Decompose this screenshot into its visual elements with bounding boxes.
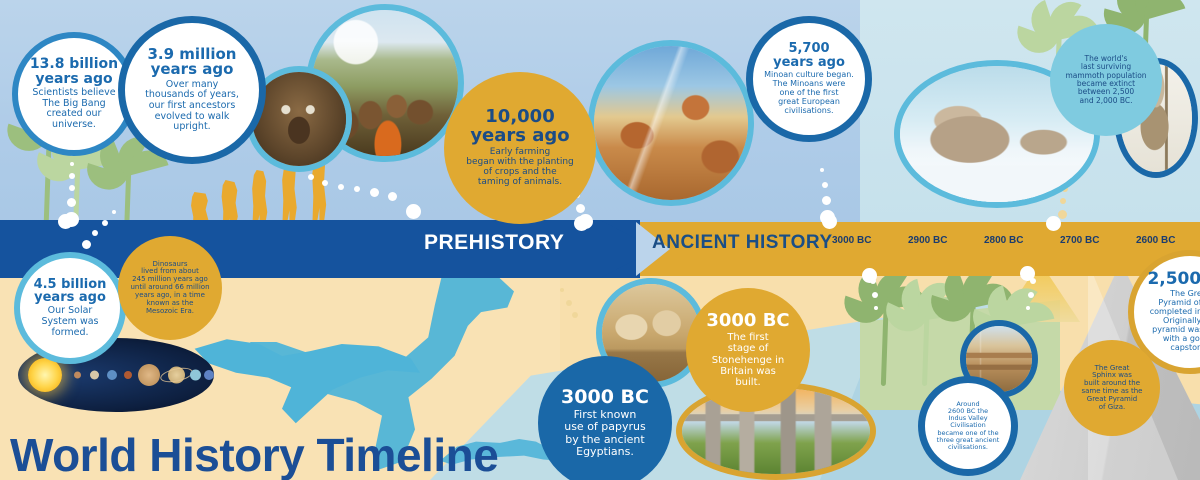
bubble-body: The world's last surviving mammoth popul… [1065, 55, 1146, 105]
timeline-tick: 2800 BC [984, 235, 1060, 246]
planet-icon [74, 372, 81, 379]
bubble-body: Dinosaurs lived from about 245 million y… [130, 261, 209, 316]
page-title: World History Timeline [10, 428, 498, 480]
bubble-headline: 3.9 million years ago [148, 47, 237, 78]
bubble-body: The Great Pyramid of Giza completed in E… [1150, 290, 1200, 353]
bubble-body: Around 2600 BC the Indus Valley Civilisa… [931, 401, 1005, 452]
planet-icon [190, 370, 201, 381]
bubble-body: Minoan culture began. The Minoans were o… [764, 71, 854, 116]
bubble-mammoth-extinction[interactable]: The world's last surviving mammoth popul… [1050, 24, 1162, 136]
bubble-dinosaurs[interactable]: Dinosaurs lived from about 245 million y… [118, 236, 222, 340]
bubble-body: First known use of papyrus by the ancien… [564, 409, 646, 458]
bubble-early-farming[interactable]: 10,000 years ago Early farming began wit… [444, 72, 596, 224]
bubble-minoan-culture[interactable]: 5,700 years ago Minoan culture began. Th… [746, 16, 872, 142]
bubble-solar-system[interactable]: 4.5 billion years ago Our Solar System w… [14, 252, 126, 364]
bubble-headline: 3000 BC [561, 388, 649, 407]
bubble-papyrus[interactable]: 3000 BC First known use of papyrus by th… [538, 356, 672, 480]
planet-icon [138, 364, 160, 386]
bubble-headline: 2,500 BC [1147, 271, 1200, 288]
bubble-body: Our Solar System was formed. [42, 306, 99, 338]
timeline-tick-labels: 3000 BC 2900 BC 2800 BC 2700 BC 2600 BC … [832, 235, 1200, 246]
bubble-body: Over many thousands of years, our first … [145, 80, 239, 133]
bubble-body: Early farming began with the planting of… [466, 147, 574, 187]
timeline-tick: 3000 BC [832, 235, 908, 246]
bubble-headline: 4.5 billion years ago [34, 278, 107, 305]
bubble-body: The first stage of Stonehenge in Britain… [712, 332, 785, 388]
era-label-ancient-history: ANCIENT HISTORY [652, 232, 833, 254]
infographic-canvas: PREHISTORY ANCIENT HISTORY 3000 BC 2900 … [0, 0, 1200, 480]
bubble-indus-valley[interactable]: Around 2600 BC the Indus Valley Civilisa… [918, 376, 1018, 476]
bubble-first-ancestors[interactable]: 3.9 million years ago Over many thousand… [118, 16, 266, 164]
sun-icon [28, 358, 62, 392]
bubble-headline: 10,000 years ago [470, 108, 569, 145]
timeline-tick: 2600 BC [1136, 235, 1200, 246]
timeline-tick: 2700 BC [1060, 235, 1136, 246]
bubble-headline: 13.8 billion years ago [30, 57, 118, 86]
minoan-boat-photo [588, 40, 754, 206]
bubble-body: Scientists believe The Big Bang created … [32, 88, 115, 131]
bubble-headline: 3000 BC [706, 312, 789, 330]
planet-icon [124, 371, 132, 379]
timeline-tick: 2900 BC [908, 235, 984, 246]
bubble-stonehenge[interactable]: 3000 BC The first stage of Stonehenge in… [686, 288, 810, 412]
era-label-prehistory: PREHISTORY [424, 231, 564, 255]
planet-icon [107, 370, 117, 380]
bubble-great-sphinx[interactable]: The Great Sphinx was built around the sa… [1064, 340, 1160, 436]
bubble-body: The Great Sphinx was built around the sa… [1082, 365, 1143, 412]
planet-icon [90, 371, 99, 380]
palm-tree-icon [96, 156, 160, 226]
bubble-headline: 5,700 years ago [773, 42, 845, 69]
planet-icon [204, 370, 214, 380]
